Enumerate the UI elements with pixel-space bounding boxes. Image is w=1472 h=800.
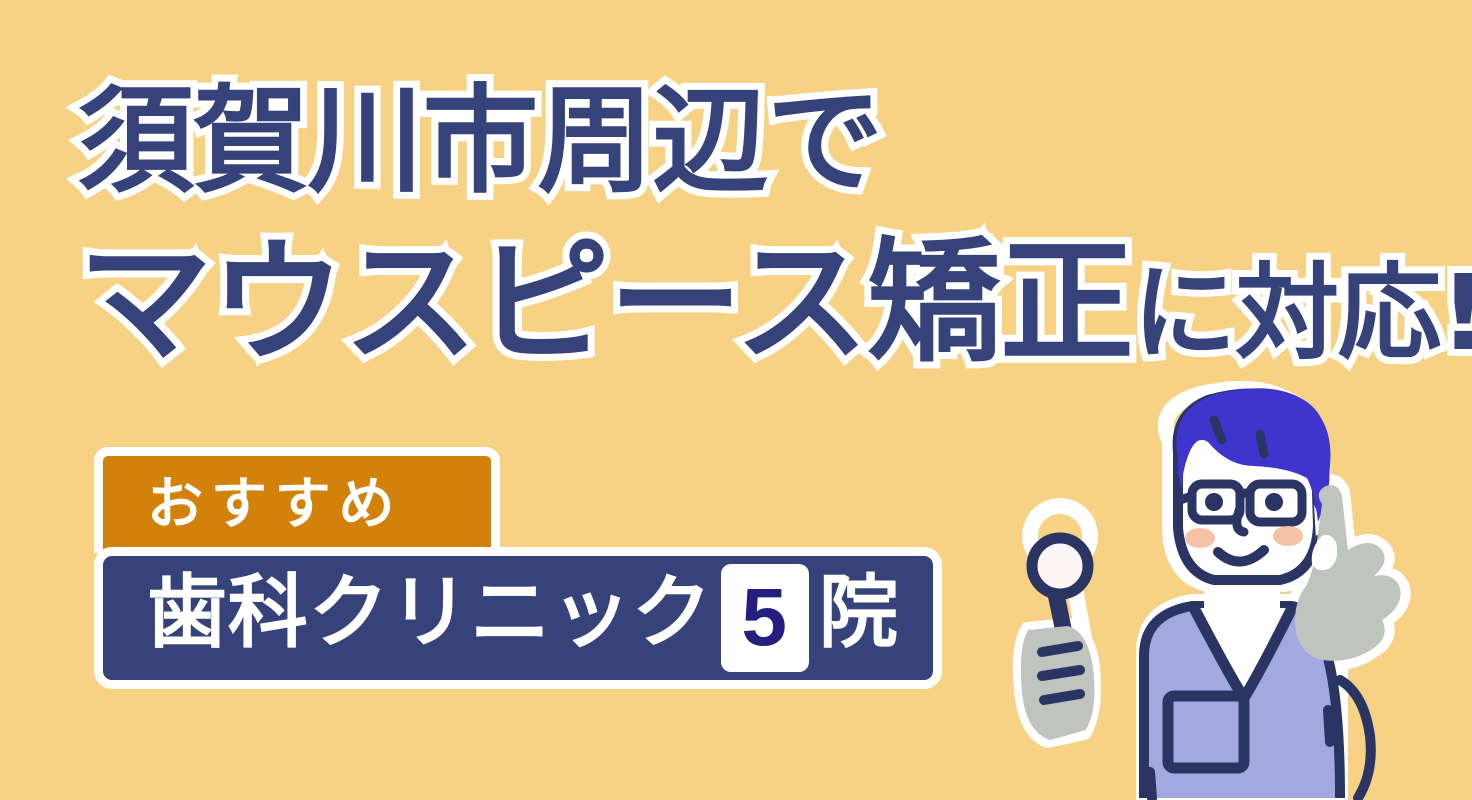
count-number-chip: 5 xyxy=(721,564,809,672)
recommend-badge: おすすめ xyxy=(94,447,500,553)
clinic-count-text: 歯科クリニック5院 xyxy=(147,564,899,672)
headline-line-1: 須賀川市周辺で xyxy=(78,84,882,200)
count-number: 5 xyxy=(741,577,787,659)
eye-left xyxy=(1205,493,1223,511)
blush-right xyxy=(1273,526,1303,546)
eye-right xyxy=(1265,493,1283,511)
gloved-hand-left xyxy=(1021,626,1095,740)
dentist-illustration xyxy=(992,380,1472,800)
blush-left xyxy=(1185,528,1215,548)
headline-line-2: マウスピース矯正に対応! xyxy=(78,236,1472,370)
promo-banner: 須賀川市周辺で マウスピース矯正に対応! おすすめ 歯科クリニック5院 xyxy=(0,0,1472,800)
headline-line-2-main: マウスピース矯正 xyxy=(78,225,1133,381)
clinic-count-suffix: 院 xyxy=(819,566,900,659)
clinic-count-badge: 歯科クリニック5院 xyxy=(94,547,942,689)
dentist-illustration-svg xyxy=(992,380,1472,800)
headline-line-2-tail: に対応! xyxy=(1133,252,1472,374)
clinic-count-prefix: 歯科クリニック xyxy=(147,566,713,659)
recommend-badge-label: おすすめ xyxy=(147,477,402,533)
